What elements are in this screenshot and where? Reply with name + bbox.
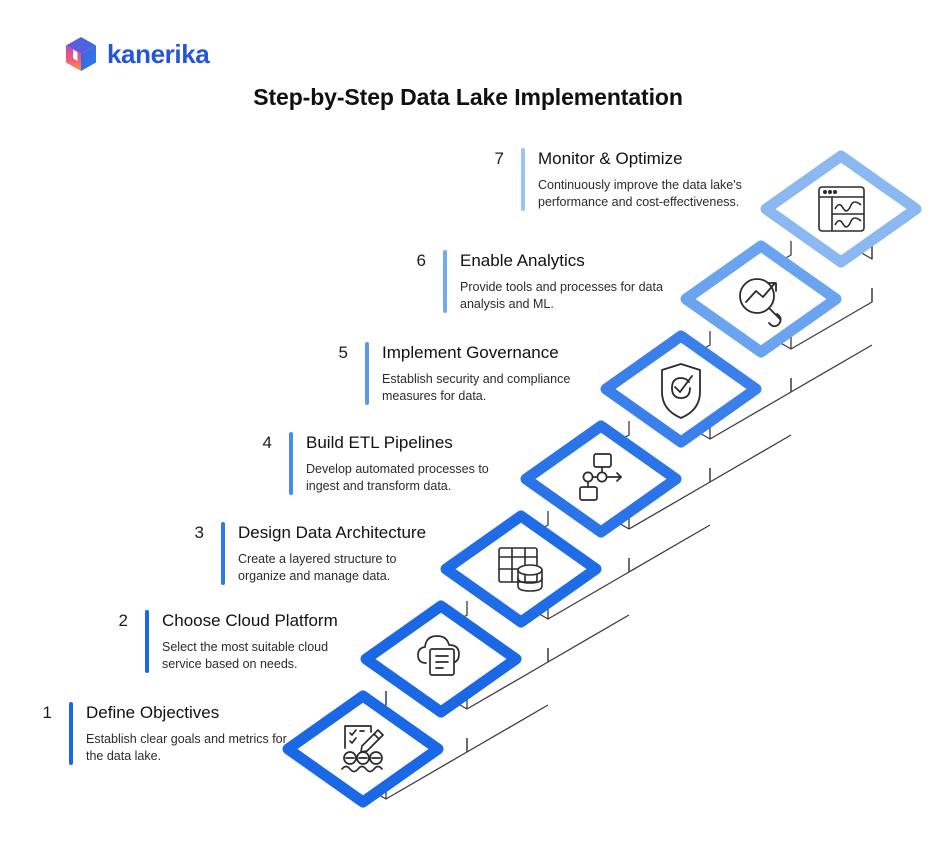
step-description-1: Establish clear goals and metrics for th…	[86, 731, 291, 765]
step-title-5: Implement Governance	[382, 342, 587, 364]
step-accent-bar-5	[365, 342, 369, 405]
step-accent-bar-7	[521, 148, 525, 211]
staircase-diagram: 7 Monitor & Optimize Continuously improv…	[0, 0, 936, 861]
step-item-7: 7 Monitor & Optimize Continuously improv…	[478, 148, 743, 211]
step-title-3: Design Data Architecture	[238, 522, 443, 544]
step-number-4: 4	[246, 432, 272, 454]
step-item-4: 4 Build ETL Pipelines Develop automated …	[246, 432, 511, 495]
step-description-7: Continuously improve the data lake's per…	[538, 177, 743, 211]
step-accent-bar-6	[443, 250, 447, 313]
step-number-5: 5	[322, 342, 348, 364]
step-accent-bar-3	[221, 522, 225, 585]
step-title-6: Enable Analytics	[460, 250, 665, 272]
step-item-1: 1 Define Objectives Establish clear goal…	[26, 702, 291, 765]
step-number-7: 7	[478, 148, 504, 170]
step-description-2: Select the most suitable cloud service b…	[162, 639, 367, 673]
step-accent-bar-1	[69, 702, 73, 765]
step-number-2: 2	[102, 610, 128, 632]
checklist-pencil-people-icon	[282, 690, 444, 808]
step-number-6: 6	[400, 250, 426, 272]
step-item-3: 3 Design Data Architecture Create a laye…	[178, 522, 443, 585]
step-description-6: Provide tools and processes for data ana…	[460, 279, 665, 313]
step-accent-bar-2	[145, 610, 149, 673]
step-description-4: Develop automated processes to ingest an…	[306, 461, 511, 495]
step-description-5: Establish security and compliance measur…	[382, 371, 587, 405]
step-title-4: Build ETL Pipelines	[306, 432, 511, 454]
step-description-3: Create a layered structure to organize a…	[238, 551, 443, 585]
step-title-1: Define Objectives	[86, 702, 291, 724]
step-number-3: 3	[178, 522, 204, 544]
step-item-5: 5 Implement Governance Establish securit…	[322, 342, 587, 405]
step-title-7: Monitor & Optimize	[538, 148, 743, 170]
step-item-6: 6 Enable Analytics Provide tools and pro…	[400, 250, 665, 313]
step-title-2: Choose Cloud Platform	[162, 610, 367, 632]
step-number-1: 1	[26, 702, 52, 724]
step-accent-bar-4	[289, 432, 293, 495]
step-item-2: 2 Choose Cloud Platform Select the most …	[102, 610, 367, 673]
step-tile-1[interactable]	[282, 690, 444, 808]
